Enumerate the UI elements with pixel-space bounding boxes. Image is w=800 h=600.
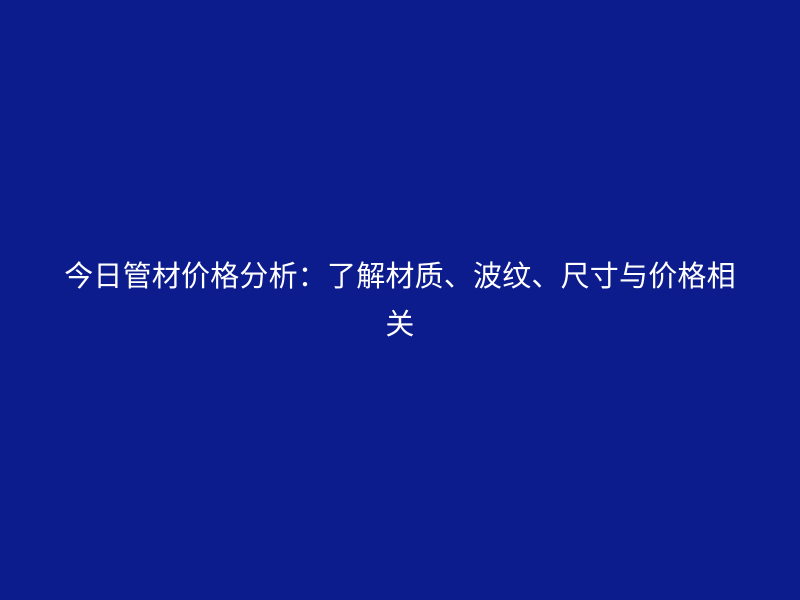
page-title: 今日管材价格分析：了解材质、波纹、尺寸与价格相关 [50,252,750,348]
title-card: 今日管材价格分析：了解材质、波纹、尺寸与价格相关 [0,0,800,600]
title-block: 今日管材价格分析：了解材质、波纹、尺寸与价格相关 [50,252,750,348]
